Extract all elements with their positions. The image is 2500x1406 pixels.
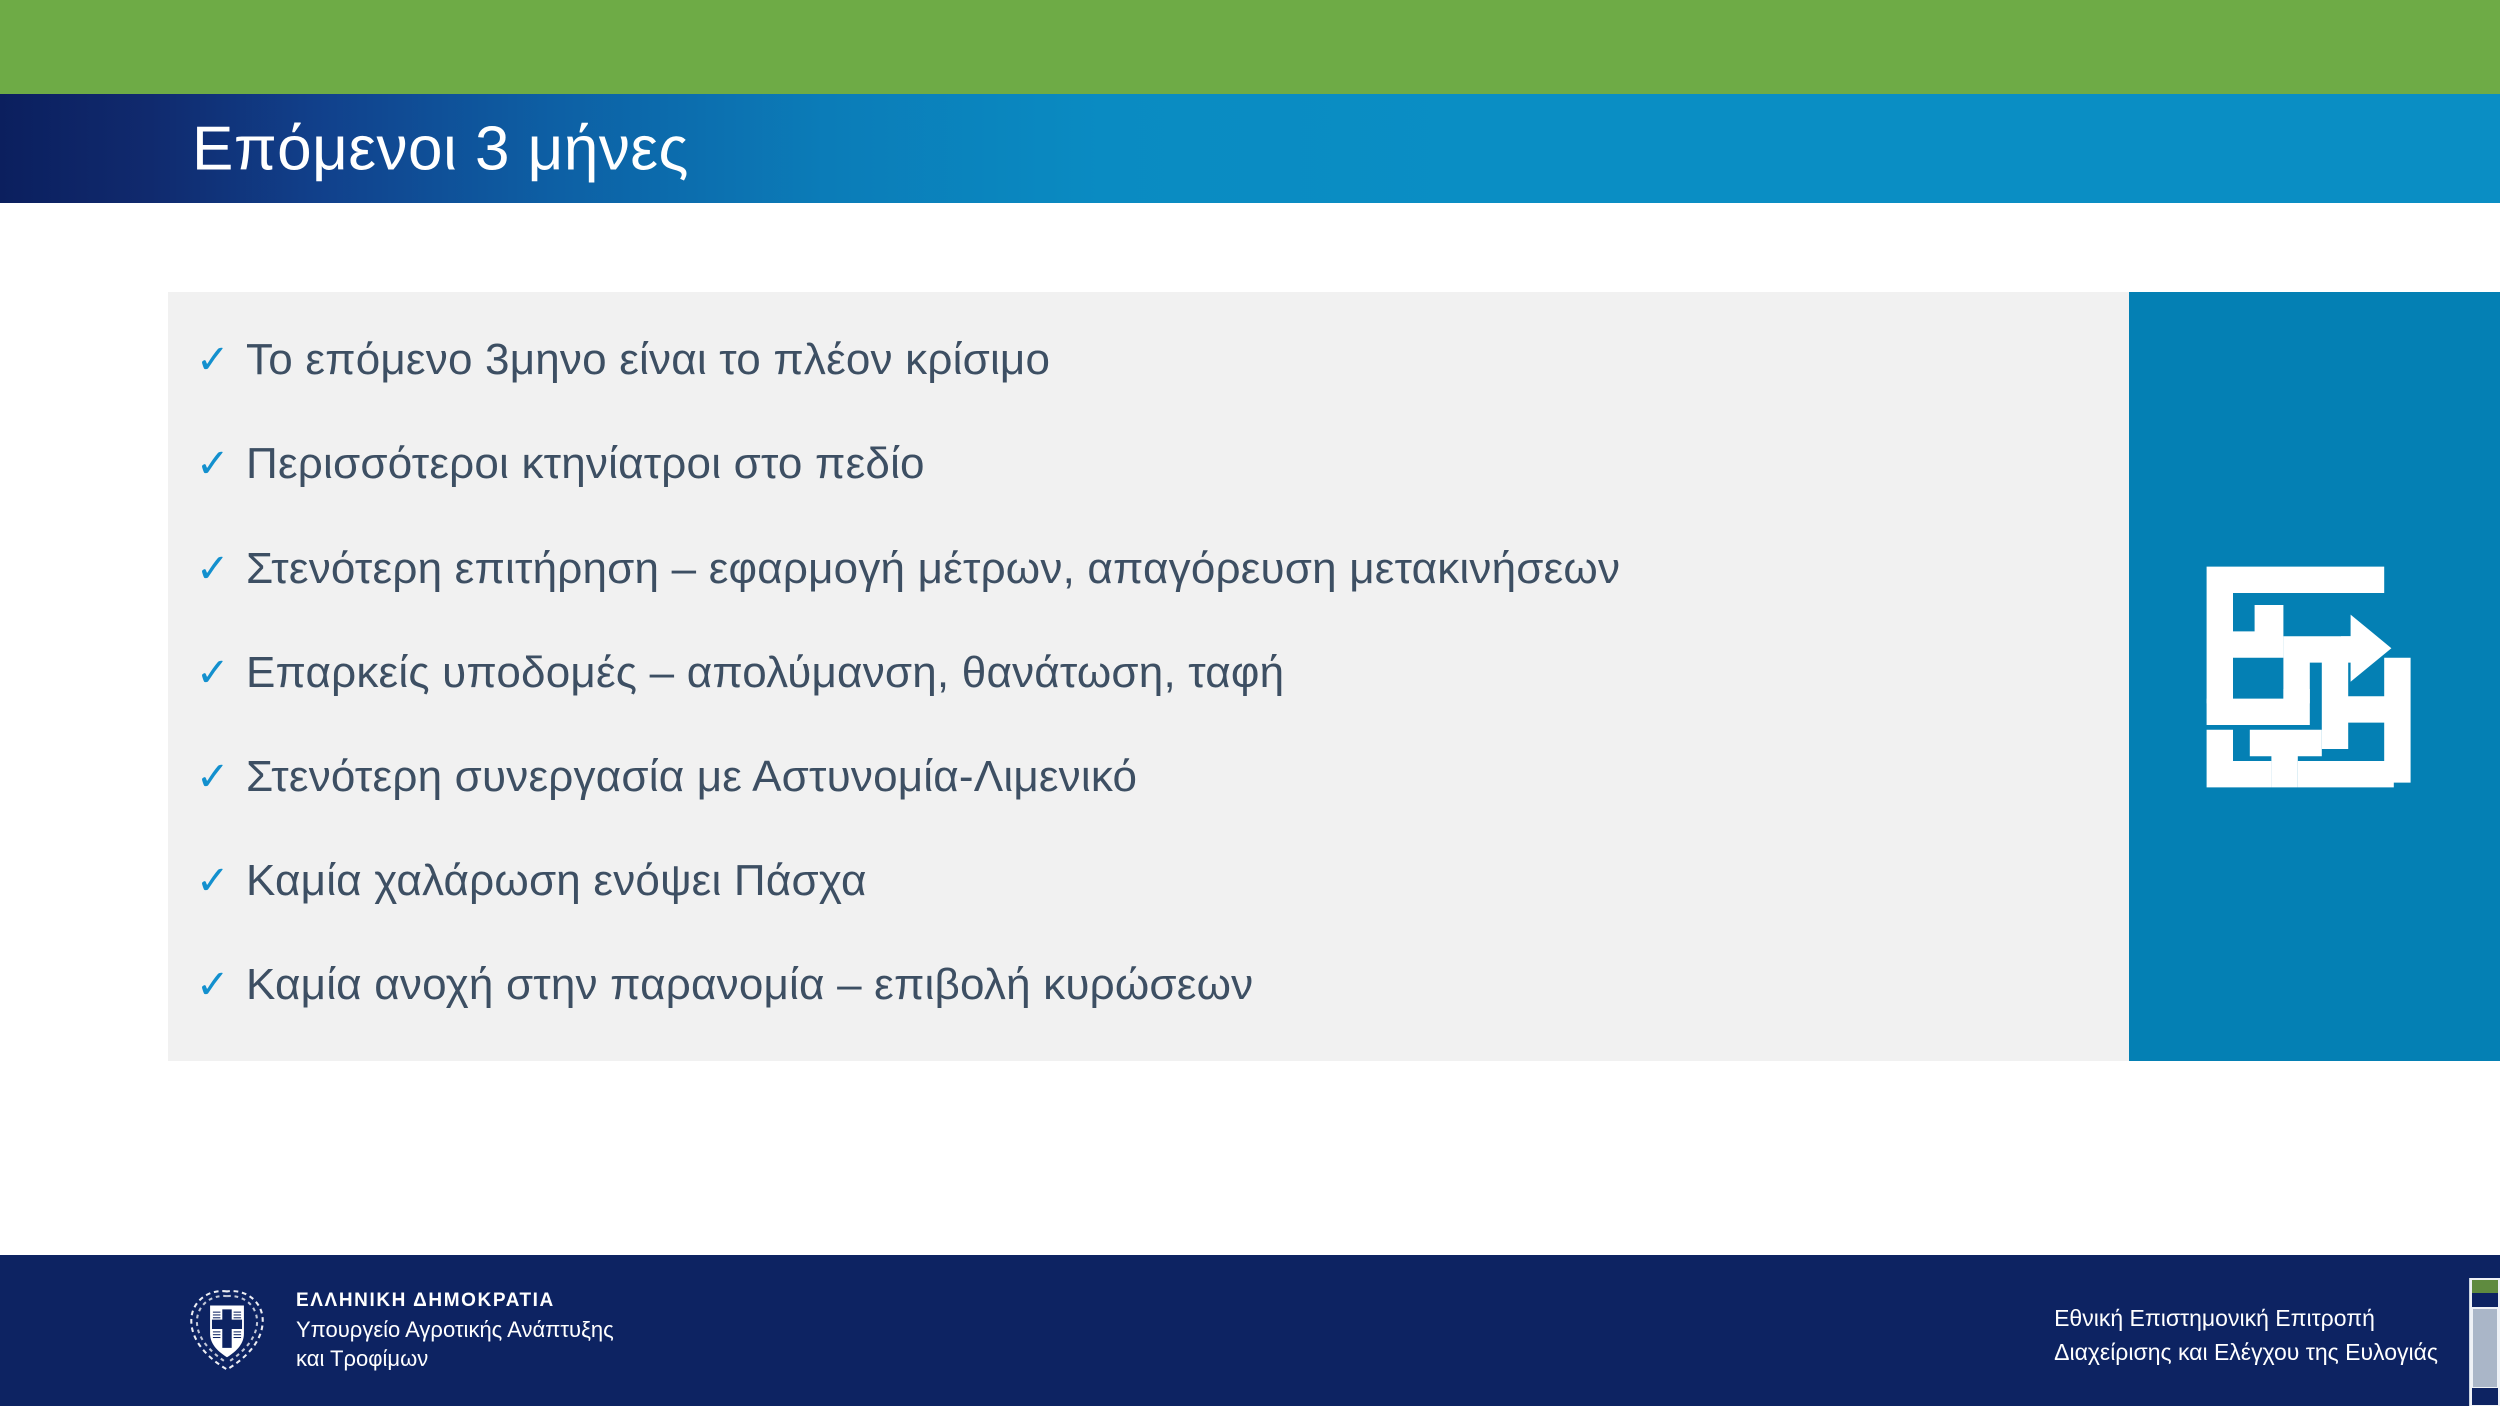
list-item: ✓ Στενότερη συνεργασία με Αστυνομία-Λιμε…: [168, 745, 1137, 809]
check-icon: ✓: [168, 965, 246, 1005]
list-item: ✓ Επαρκείς υποδομές – απολύμανση, θανάτω…: [168, 641, 1284, 705]
check-icon: ✓: [168, 653, 246, 693]
list-item-label: Περισσότεροι κτηνίατροι στο πεδίο: [246, 440, 925, 488]
scrollbar-thumb[interactable]: [2473, 1309, 2497, 1387]
committee-text-block: Εθνική Επιστημονική Επιτροπή Διαχείρισης…: [2054, 1301, 2438, 1369]
ministry-text-block: ΕΛΛΗΝΙΚΗ ΔΗΜΟΚΡΑΤΙΑ Υπουργείο Αγροτικής …: [296, 1287, 614, 1373]
slide-canvas: Επόμενοι 3 μήνες: [0, 0, 2500, 1406]
ministry-line-3: και Τροφίμων: [296, 1344, 614, 1373]
check-icon: ✓: [168, 861, 246, 901]
bullet-list: ✓ Το επόμενο 3μηνο είναι το πλέον κρίσιμ…: [168, 292, 2129, 1061]
list-item: ✓ Στενότερη επιτήρηση – εφαρμογή μέτρων,…: [168, 537, 1620, 601]
slide-title-bar: Επόμενοι 3 μήνες: [0, 94, 2500, 203]
top-green-band: [0, 0, 2500, 94]
ministry-line-2: Υπουργείο Αγροτικής Ανάπτυξης: [296, 1315, 614, 1344]
check-icon: ✓: [168, 444, 246, 484]
list-item-label: Καμία χαλάρωση ενόψει Πάσχα: [246, 857, 867, 905]
ministry-branding: ΕΛΛΗΝΙΚΗ ΔΗΜΟΚΡΑΤΙΑ Υπουργείο Αγροτικής …: [180, 1283, 614, 1377]
list-item: ✓ Καμία ανοχή στην παρανομία – επιβολή κ…: [168, 953, 1253, 1017]
ministry-line-1: ΕΛΛΗΝΙΚΗ ΔΗΜΟΚΡΑΤΙΑ: [296, 1287, 614, 1315]
scrollbar-segment-navy: [2472, 1293, 2498, 1307]
committee-line-2: Διαχείρισης και Ελέγχου της Ευλογιάς: [2054, 1335, 2438, 1369]
vertical-scrollbar[interactable]: [2469, 1278, 2500, 1406]
scrollbar-down-button[interactable]: [2472, 1388, 2498, 1405]
list-item: ✓ Περισσότεροι κτηνίατροι στο πεδίο: [168, 432, 925, 496]
list-item-label: Το επόμενο 3μηνο είναι το πλέον κρίσιμο: [246, 336, 1050, 384]
maze-path-arrow-icon: [2197, 557, 2437, 797]
list-item-label: Επαρκείς υποδομές – απολύμανση, θανάτωση…: [246, 649, 1284, 697]
hellenic-republic-coat-of-arms-icon: [180, 1283, 274, 1377]
check-icon: ✓: [168, 340, 246, 380]
committee-line-1: Εθνική Επιστημονική Επιτροπή: [2054, 1301, 2438, 1335]
check-icon: ✓: [168, 757, 246, 797]
list-item: ✓ Καμία χαλάρωση ενόψει Πάσχα: [168, 849, 867, 913]
page-title: Επόμενοι 3 μήνες: [192, 113, 689, 184]
accent-panel: [2129, 292, 2500, 1061]
check-icon: ✓: [168, 549, 246, 589]
list-item-label: Καμία ανοχή στην παρανομία – επιβολή κυρ…: [246, 961, 1253, 1009]
list-item: ✓ Το επόμενο 3μηνο είναι το πλέον κρίσιμ…: [168, 328, 1050, 392]
scrollbar-segment-green: [2472, 1280, 2498, 1293]
list-item-label: Στενότερη συνεργασία με Αστυνομία-Λιμενι…: [246, 753, 1137, 801]
list-item-label: Στενότερη επιτήρηση – εφαρμογή μέτρων, α…: [246, 545, 1620, 593]
